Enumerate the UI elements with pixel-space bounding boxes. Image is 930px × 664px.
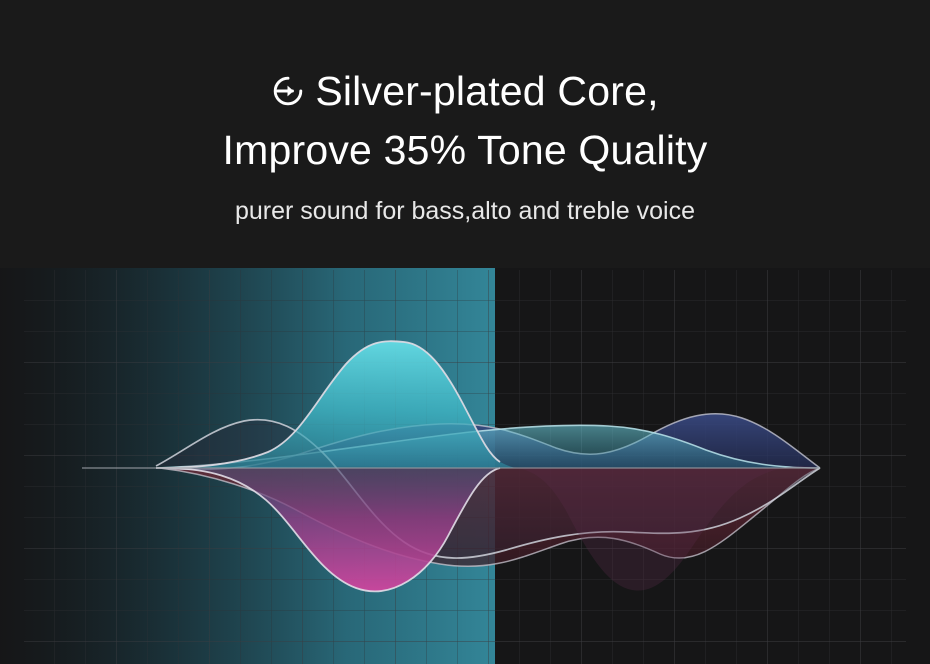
arrow-into-circle-icon [271,74,305,108]
header-block: Silver-plated Core, Improve 35% Tone Qua… [0,0,930,268]
title-line-1: Silver-plated Core, [315,68,658,114]
title-line-1-row: Silver-plated Core, [0,62,930,121]
promo-banner: Silver-plated Core, Improve 35% Tone Qua… [0,0,930,664]
subtitle: purer sound for bass,alto and treble voi… [0,194,930,228]
title-line-2: Improve 35% Tone Quality [0,121,930,180]
waveform-svg [0,268,930,664]
audio-waveform-graphic [0,268,930,664]
